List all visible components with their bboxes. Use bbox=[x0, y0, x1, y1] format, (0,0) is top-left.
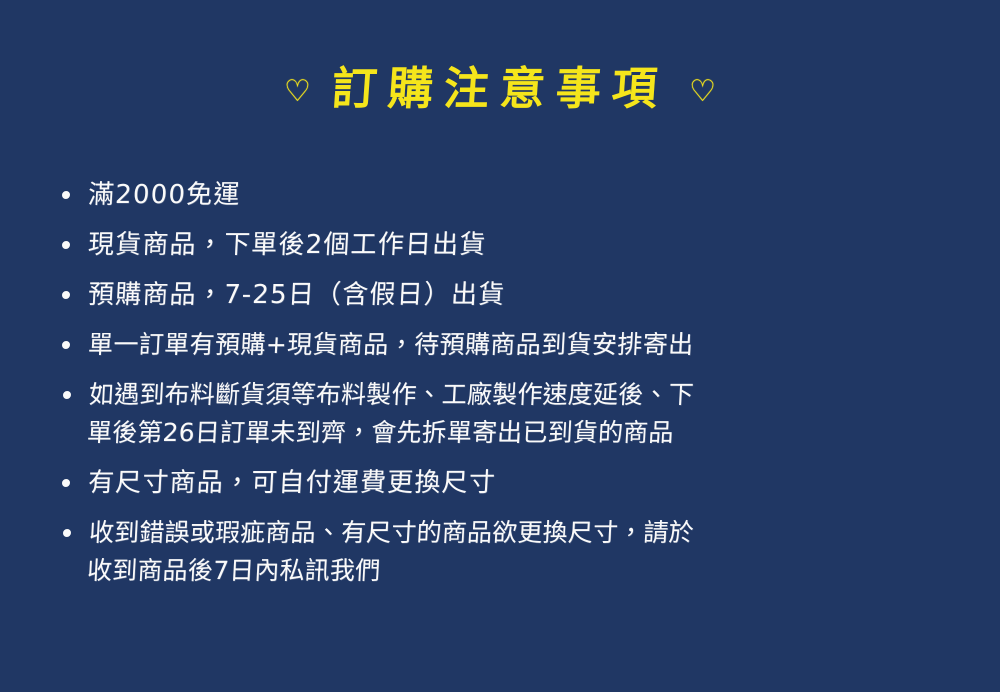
bullet-icon bbox=[63, 391, 71, 399]
list-item: 單一訂單有預購+現貨商品，待預購商品到貨安排寄出 bbox=[57, 326, 959, 364]
bullet-icon bbox=[62, 191, 70, 199]
bullet-icon bbox=[62, 479, 70, 487]
list-item: 如遇到布料斷貨須等布料製作、工廠製作速度延後、下 單後第26日訂單未到齊，會先拆… bbox=[56, 376, 960, 452]
heart-icon-right: ♡ bbox=[689, 77, 716, 107]
notice-line: 滿2000免運 bbox=[87, 176, 959, 214]
page-title: ♡ 訂購注意事項 ♡ bbox=[0, 66, 1000, 111]
notice-line: 有尺寸商品，可自付運費更換尺寸 bbox=[87, 464, 959, 502]
heart-icon-left: ♡ bbox=[284, 77, 311, 107]
bullet-icon bbox=[62, 241, 70, 249]
list-item: 收到錯誤或瑕疵商品、有尺寸的商品欲更換尺寸，請於 收到商品後7日內私訊我們 bbox=[56, 514, 960, 590]
list-item: 現貨商品，下單後2個工作日出貨 bbox=[57, 226, 959, 264]
bullet-icon bbox=[62, 291, 70, 299]
notice-line: 收到商品後7日內私訊我們 bbox=[86, 552, 958, 590]
notice-line: 單一訂單有預購+現貨商品，待預購商品到貨安排寄出 bbox=[87, 326, 959, 364]
list-item: 有尺寸商品，可自付運費更換尺寸 bbox=[57, 464, 959, 502]
notice-page: ♡ 訂購注意事項 ♡ 滿2000免運 現貨商品，下單後2個工作日出貨 預購商品，… bbox=[0, 0, 1000, 692]
notice-list: 滿2000免運 現貨商品，下單後2個工作日出貨 預購商品，7-25日（含假日）出… bbox=[58, 176, 958, 602]
list-item: 滿2000免運 bbox=[57, 176, 959, 214]
page-title-text: 訂購注意事項 bbox=[314, 66, 685, 111]
notice-line: 如遇到布料斷貨須等布料製作、工廠製作速度延後、下 bbox=[88, 376, 960, 414]
notice-line: 單後第26日訂單未到齊，會先拆單寄出已到貨的商品 bbox=[86, 414, 958, 452]
notice-line: 收到錯誤或瑕疵商品、有尺寸的商品欲更換尺寸，請於 bbox=[88, 514, 960, 552]
notice-line: 預購商品，7-25日（含假日）出貨 bbox=[87, 276, 959, 314]
list-item: 預購商品，7-25日（含假日）出貨 bbox=[57, 276, 959, 314]
bullet-icon bbox=[62, 341, 70, 349]
bullet-icon bbox=[63, 529, 71, 537]
notice-line: 現貨商品，下單後2個工作日出貨 bbox=[87, 226, 959, 264]
